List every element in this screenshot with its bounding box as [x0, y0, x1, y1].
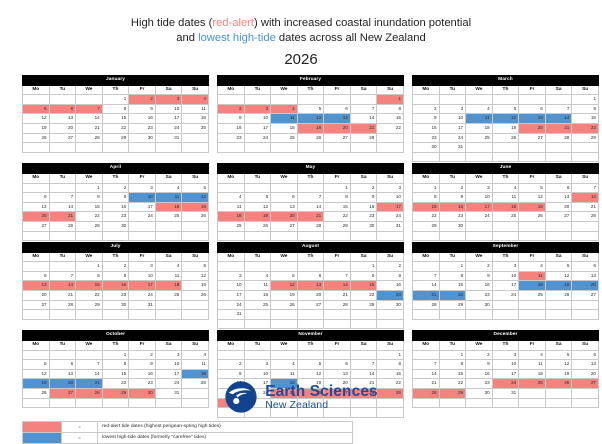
- day-cell-lowest-high-tide[interactable]: 13: [519, 114, 546, 124]
- day-cell[interactable]: 30: [129, 133, 156, 143]
- day-cell[interactable]: 20: [23, 291, 50, 301]
- day-cell-red-alert[interactable]: 18: [155, 202, 182, 212]
- day-cell[interactable]: 1: [413, 183, 440, 193]
- day-cell[interactable]: 7: [76, 360, 103, 370]
- day-cell[interactable]: 28: [49, 300, 76, 310]
- day-cell[interactable]: 9: [439, 193, 466, 203]
- day-cell[interactable]: 31: [129, 300, 156, 310]
- day-cell[interactable]: 27: [49, 133, 76, 143]
- day-cell[interactable]: 26: [519, 212, 546, 222]
- day-cell-lowest-high-tide[interactable]: 19: [545, 281, 572, 291]
- day-cell[interactable]: 12: [519, 193, 546, 203]
- day-cell[interactable]: 11: [218, 202, 245, 212]
- day-cell[interactable]: 15: [102, 369, 129, 379]
- day-cell[interactable]: 22: [76, 212, 103, 222]
- day-cell[interactable]: 14: [76, 114, 103, 124]
- day-cell[interactable]: 6: [519, 104, 546, 114]
- day-cell[interactable]: 27: [324, 133, 351, 143]
- day-cell[interactable]: 27: [23, 221, 50, 231]
- day-cell[interactable]: 27: [519, 133, 546, 143]
- day-cell[interactable]: 26: [182, 212, 209, 222]
- day-cell[interactable]: 5: [271, 271, 298, 281]
- day-cell[interactable]: 5: [23, 360, 50, 370]
- day-cell-lowest-high-tide[interactable]: 21: [413, 291, 440, 301]
- day-cell[interactable]: 16: [218, 123, 245, 133]
- day-cell[interactable]: 26: [23, 133, 50, 143]
- day-cell[interactable]: 28: [297, 221, 324, 231]
- day-cell[interactable]: 8: [102, 104, 129, 114]
- day-cell[interactable]: 9: [466, 271, 493, 281]
- day-cell[interactable]: 6: [572, 262, 599, 272]
- day-cell[interactable]: 18: [466, 123, 493, 133]
- day-cell[interactable]: 30: [413, 143, 440, 153]
- day-cell[interactable]: 6: [49, 360, 76, 370]
- day-cell[interactable]: 7: [350, 360, 377, 370]
- day-cell[interactable]: 28: [572, 212, 599, 222]
- day-cell-lowest-high-tide[interactable]: 22: [439, 291, 466, 301]
- day-cell[interactable]: 25: [271, 133, 298, 143]
- day-cell[interactable]: 9: [466, 360, 493, 370]
- day-cell[interactable]: 2: [466, 262, 493, 272]
- day-cell[interactable]: 5: [182, 183, 209, 193]
- day-cell[interactable]: 8: [76, 193, 103, 203]
- day-cell-red-alert[interactable]: 17: [466, 202, 493, 212]
- day-cell[interactable]: 7: [297, 193, 324, 203]
- day-cell[interactable]: 24: [439, 133, 466, 143]
- day-cell[interactable]: 2: [102, 262, 129, 272]
- day-cell[interactable]: 25: [466, 133, 493, 143]
- day-cell-red-alert[interactable]: 15: [76, 281, 103, 291]
- day-cell[interactable]: 9: [413, 114, 440, 124]
- day-cell-red-alert[interactable]: 18: [155, 281, 182, 291]
- day-cell[interactable]: 8: [76, 271, 103, 281]
- day-cell[interactable]: 3: [129, 183, 156, 193]
- day-cell[interactable]: 17: [244, 123, 271, 133]
- day-cell-lowest-high-tide[interactable]: 20: [572, 281, 599, 291]
- day-cell[interactable]: 2: [350, 183, 377, 193]
- day-cell[interactable]: 26: [182, 291, 209, 301]
- day-cell[interactable]: 23: [218, 133, 245, 143]
- day-cell[interactable]: 9: [377, 271, 404, 281]
- day-cell[interactable]: 26: [297, 133, 324, 143]
- day-cell-red-alert[interactable]: 7: [76, 104, 103, 114]
- day-cell-red-alert[interactable]: 11: [519, 271, 546, 281]
- day-cell[interactable]: 1: [324, 183, 351, 193]
- day-cell-red-alert[interactable]: 19: [182, 202, 209, 212]
- day-cell[interactable]: 10: [244, 369, 271, 379]
- day-cell[interactable]: 1: [102, 350, 129, 360]
- day-cell[interactable]: 10: [492, 360, 519, 370]
- day-cell[interactable]: 31: [439, 143, 466, 153]
- day-cell[interactable]: 2: [218, 360, 245, 370]
- day-cell[interactable]: 17: [492, 281, 519, 291]
- day-cell[interactable]: 17: [155, 114, 182, 124]
- day-cell[interactable]: 7: [545, 104, 572, 114]
- day-cell[interactable]: 23: [102, 212, 129, 222]
- day-cell[interactable]: 25: [519, 291, 546, 301]
- day-cell[interactable]: 10: [155, 104, 182, 114]
- day-cell[interactable]: 24: [466, 212, 493, 222]
- day-cell-lowest-high-tide[interactable]: 11: [271, 114, 298, 124]
- day-cell[interactable]: 1: [439, 350, 466, 360]
- day-cell[interactable]: 11: [244, 281, 271, 291]
- day-cell[interactable]: 31: [155, 133, 182, 143]
- day-cell[interactable]: 17: [218, 291, 245, 301]
- day-cell[interactable]: 27: [297, 300, 324, 310]
- day-cell[interactable]: 27: [545, 212, 572, 222]
- day-cell[interactable]: 1: [439, 262, 466, 272]
- day-cell-red-alert[interactable]: 18: [492, 202, 519, 212]
- day-cell-red-alert[interactable]: 14: [49, 281, 76, 291]
- day-cell[interactable]: 25: [218, 221, 245, 231]
- day-cell-red-alert[interactable]: 4: [271, 104, 298, 114]
- day-cell[interactable]: 15: [377, 369, 404, 379]
- day-cell-red-alert[interactable]: 2: [129, 95, 156, 105]
- day-cell[interactable]: 7: [413, 271, 440, 281]
- day-cell[interactable]: 8: [377, 104, 404, 114]
- day-cell[interactable]: 30: [102, 221, 129, 231]
- day-cell[interactable]: 12: [23, 369, 50, 379]
- day-cell[interactable]: 12: [23, 114, 50, 124]
- day-cell[interactable]: 17: [439, 123, 466, 133]
- day-cell-red-alert[interactable]: 14: [324, 281, 351, 291]
- day-cell[interactable]: 2: [439, 183, 466, 193]
- day-cell-red-alert[interactable]: 20: [23, 212, 50, 222]
- day-cell[interactable]: 20: [572, 369, 599, 379]
- day-cell-lowest-high-tide[interactable]: 12: [297, 114, 324, 124]
- day-cell[interactable]: 14: [350, 369, 377, 379]
- day-cell[interactable]: 11: [155, 271, 182, 281]
- day-cell-lowest-high-tide[interactable]: 11: [155, 193, 182, 203]
- day-cell[interactable]: 4: [466, 104, 493, 114]
- day-cell[interactable]: 30: [350, 221, 377, 231]
- day-cell[interactable]: 2: [466, 350, 493, 360]
- day-cell[interactable]: 16: [413, 123, 440, 133]
- day-cell[interactable]: 8: [413, 193, 440, 203]
- day-cell[interactable]: 8: [439, 271, 466, 281]
- day-cell[interactable]: 14: [297, 202, 324, 212]
- day-cell[interactable]: 29: [324, 221, 351, 231]
- day-cell-red-alert[interactable]: 12: [271, 281, 298, 291]
- day-cell[interactable]: 23: [466, 291, 493, 301]
- day-cell[interactable]: 31: [218, 310, 245, 320]
- day-cell[interactable]: 3: [439, 104, 466, 114]
- day-cell[interactable]: 7: [49, 271, 76, 281]
- day-cell[interactable]: 25: [182, 123, 209, 133]
- day-cell[interactable]: 23: [413, 133, 440, 143]
- day-cell[interactable]: 4: [244, 271, 271, 281]
- day-cell[interactable]: 6: [23, 193, 50, 203]
- day-cell[interactable]: 23: [350, 212, 377, 222]
- day-cell[interactable]: 24: [129, 291, 156, 301]
- day-cell-red-alert[interactable]: 17: [129, 281, 156, 291]
- day-cell-lowest-high-tide[interactable]: 18: [519, 281, 546, 291]
- day-cell[interactable]: 18: [182, 114, 209, 124]
- day-cell[interactable]: 23: [102, 291, 129, 301]
- day-cell[interactable]: 16: [466, 369, 493, 379]
- day-cell[interactable]: 1: [350, 262, 377, 272]
- day-cell[interactable]: 22: [350, 291, 377, 301]
- day-cell[interactable]: 12: [297, 369, 324, 379]
- day-cell-red-alert[interactable]: 20: [519, 123, 546, 133]
- day-cell-red-alert[interactable]: 19: [519, 202, 546, 212]
- day-cell[interactable]: 15: [439, 281, 466, 291]
- day-cell[interactable]: 16: [129, 369, 156, 379]
- day-cell[interactable]: 19: [182, 281, 209, 291]
- day-cell[interactable]: 15: [324, 202, 351, 212]
- day-cell[interactable]: 15: [439, 369, 466, 379]
- day-cell[interactable]: 7: [413, 360, 440, 370]
- day-cell-red-alert[interactable]: 14: [572, 193, 599, 203]
- day-cell[interactable]: 22: [324, 212, 351, 222]
- day-cell[interactable]: 3: [244, 360, 271, 370]
- day-cell[interactable]: 11: [519, 360, 546, 370]
- day-cell[interactable]: 28: [545, 133, 572, 143]
- day-cell[interactable]: 19: [23, 123, 50, 133]
- day-cell[interactable]: 25: [155, 291, 182, 301]
- day-cell-red-alert[interactable]: 5: [23, 104, 50, 114]
- day-cell[interactable]: 21: [572, 202, 599, 212]
- day-cell[interactable]: 13: [572, 360, 599, 370]
- day-cell-red-alert[interactable]: 21: [350, 123, 377, 133]
- day-cell[interactable]: 21: [49, 291, 76, 301]
- day-cell[interactable]: 15: [76, 202, 103, 212]
- day-cell-red-alert[interactable]: 21: [545, 123, 572, 133]
- day-cell[interactable]: 1: [572, 95, 599, 105]
- day-cell[interactable]: 14: [49, 202, 76, 212]
- day-cell[interactable]: 14: [413, 281, 440, 291]
- day-cell[interactable]: 29: [439, 300, 466, 310]
- day-cell[interactable]: 4: [182, 350, 209, 360]
- day-cell[interactable]: 1: [76, 183, 103, 193]
- day-cell[interactable]: 30: [102, 300, 129, 310]
- day-cell[interactable]: 25: [155, 212, 182, 222]
- day-cell[interactable]: 27: [23, 300, 50, 310]
- day-cell-red-alert[interactable]: 18: [218, 212, 245, 222]
- day-cell[interactable]: 8: [350, 271, 377, 281]
- day-cell[interactable]: 9: [350, 193, 377, 203]
- day-cell[interactable]: 6: [324, 360, 351, 370]
- day-cell[interactable]: 5: [545, 350, 572, 360]
- day-cell[interactable]: 10: [439, 114, 466, 124]
- day-cell-lowest-high-tide[interactable]: 12: [492, 114, 519, 124]
- day-cell-red-alert[interactable]: 6: [49, 104, 76, 114]
- day-cell[interactable]: 11: [271, 369, 298, 379]
- day-cell[interactable]: 9: [218, 369, 245, 379]
- day-cell[interactable]: 18: [244, 291, 271, 301]
- day-cell[interactable]: 4: [155, 262, 182, 272]
- day-cell[interactable]: 18: [519, 369, 546, 379]
- day-cell-red-alert[interactable]: 16: [102, 281, 129, 291]
- day-cell-red-alert[interactable]: 13: [23, 281, 50, 291]
- day-cell-red-alert[interactable]: 21: [49, 212, 76, 222]
- day-cell[interactable]: 29: [76, 221, 103, 231]
- day-cell[interactable]: 14: [413, 369, 440, 379]
- day-cell[interactable]: 22: [377, 123, 404, 133]
- day-cell[interactable]: 10: [155, 360, 182, 370]
- day-cell[interactable]: 4: [155, 183, 182, 193]
- day-cell[interactable]: 13: [49, 114, 76, 124]
- day-cell[interactable]: 20: [49, 123, 76, 133]
- day-cell[interactable]: 11: [492, 193, 519, 203]
- day-cell[interactable]: 29: [350, 300, 377, 310]
- day-cell-red-alert[interactable]: 22: [572, 123, 599, 133]
- day-cell[interactable]: 11: [182, 104, 209, 114]
- day-cell-red-alert[interactable]: 4: [182, 95, 209, 105]
- day-cell[interactable]: 3: [466, 183, 493, 193]
- day-cell[interactable]: 5: [244, 193, 271, 203]
- day-cell-lowest-high-tide[interactable]: 12: [182, 193, 209, 203]
- day-cell[interactable]: 28: [324, 300, 351, 310]
- day-cell-red-alert[interactable]: 20: [271, 212, 298, 222]
- day-cell[interactable]: 28: [76, 133, 103, 143]
- day-cell[interactable]: 1: [102, 95, 129, 105]
- day-cell[interactable]: 9: [129, 360, 156, 370]
- day-cell[interactable]: 6: [324, 104, 351, 114]
- day-cell[interactable]: 2: [129, 350, 156, 360]
- day-cell-red-alert[interactable]: 3: [155, 95, 182, 105]
- day-cell[interactable]: 9: [129, 104, 156, 114]
- day-cell[interactable]: 6: [297, 271, 324, 281]
- day-cell[interactable]: 27: [271, 221, 298, 231]
- day-cell[interactable]: 3: [218, 271, 245, 281]
- day-cell[interactable]: 16: [377, 281, 404, 291]
- day-cell[interactable]: 2: [102, 183, 129, 193]
- day-cell[interactable]: 3: [155, 350, 182, 360]
- day-cell[interactable]: 13: [271, 202, 298, 212]
- day-cell[interactable]: 24: [129, 212, 156, 222]
- day-cell[interactable]: 30: [439, 221, 466, 231]
- day-cell[interactable]: 29: [572, 133, 599, 143]
- day-cell[interactable]: 2: [377, 262, 404, 272]
- day-cell[interactable]: 10: [492, 271, 519, 281]
- day-cell[interactable]: 17: [155, 369, 182, 379]
- day-cell[interactable]: 28: [413, 300, 440, 310]
- day-cell[interactable]: 12: [545, 271, 572, 281]
- day-cell[interactable]: 20: [545, 202, 572, 212]
- day-cell[interactable]: 5: [182, 262, 209, 272]
- day-cell[interactable]: 19: [271, 291, 298, 301]
- day-cell[interactable]: 30: [466, 300, 493, 310]
- day-cell[interactable]: 24: [244, 133, 271, 143]
- day-cell[interactable]: 29: [413, 221, 440, 231]
- day-cell-red-alert[interactable]: 21: [297, 212, 324, 222]
- day-cell-red-alert[interactable]: 16: [439, 202, 466, 212]
- day-cell[interactable]: 12: [182, 271, 209, 281]
- day-cell[interactable]: 15: [572, 114, 599, 124]
- day-cell[interactable]: 5: [545, 262, 572, 272]
- day-cell[interactable]: 27: [572, 291, 599, 301]
- day-cell[interactable]: 24: [155, 123, 182, 133]
- day-cell[interactable]: 22: [413, 212, 440, 222]
- day-cell[interactable]: 14: [350, 114, 377, 124]
- day-cell[interactable]: 19: [545, 369, 572, 379]
- day-cell[interactable]: 28: [49, 221, 76, 231]
- day-cell[interactable]: 15: [377, 114, 404, 124]
- day-cell[interactable]: 26: [271, 300, 298, 310]
- day-cell[interactable]: 8: [102, 360, 129, 370]
- day-cell[interactable]: 7: [49, 193, 76, 203]
- day-cell[interactable]: 10: [244, 114, 271, 124]
- day-cell[interactable]: 22: [102, 123, 129, 133]
- day-cell[interactable]: 9: [218, 114, 245, 124]
- day-cell[interactable]: 1: [377, 350, 404, 360]
- day-cell[interactable]: 9: [102, 193, 129, 203]
- day-cell[interactable]: 10: [218, 281, 245, 291]
- day-cell-red-alert[interactable]: 19: [244, 212, 271, 222]
- day-cell[interactable]: 4: [519, 262, 546, 272]
- day-cell[interactable]: 8: [572, 104, 599, 114]
- day-cell[interactable]: 31: [377, 221, 404, 231]
- day-cell[interactable]: 17: [492, 369, 519, 379]
- day-cell[interactable]: 1: [76, 262, 103, 272]
- day-cell-red-alert[interactable]: 20: [324, 123, 351, 133]
- day-cell-red-alert[interactable]: 15: [350, 281, 377, 291]
- day-cell[interactable]: 4: [492, 183, 519, 193]
- day-cell[interactable]: 23: [439, 212, 466, 222]
- day-cell[interactable]: 13: [572, 271, 599, 281]
- day-cell[interactable]: 15: [102, 114, 129, 124]
- day-cell[interactable]: 21: [324, 291, 351, 301]
- day-cell[interactable]: 12: [545, 360, 572, 370]
- day-cell[interactable]: 29: [76, 300, 103, 310]
- day-cell[interactable]: 14: [76, 369, 103, 379]
- day-cell[interactable]: 6: [572, 350, 599, 360]
- day-cell-red-alert[interactable]: 1: [377, 95, 404, 105]
- day-cell[interactable]: 19: [492, 123, 519, 133]
- day-cell[interactable]: 7: [350, 104, 377, 114]
- day-cell[interactable]: 21: [76, 123, 103, 133]
- day-cell[interactable]: 9: [102, 271, 129, 281]
- day-cell[interactable]: 2: [413, 104, 440, 114]
- day-cell[interactable]: 5: [297, 104, 324, 114]
- day-cell[interactable]: 26: [244, 221, 271, 231]
- day-cell[interactable]: 8: [439, 360, 466, 370]
- day-cell-red-alert[interactable]: 19: [297, 123, 324, 133]
- day-cell[interactable]: 13: [23, 202, 50, 212]
- day-cell[interactable]: 20: [297, 291, 324, 301]
- day-cell[interactable]: 25: [492, 212, 519, 222]
- day-cell[interactable]: 24: [377, 212, 404, 222]
- day-cell[interactable]: 5: [297, 360, 324, 370]
- day-cell[interactable]: 30: [377, 300, 404, 310]
- day-cell[interactable]: 29: [102, 133, 129, 143]
- day-cell[interactable]: 16: [466, 281, 493, 291]
- day-cell[interactable]: 17: [129, 202, 156, 212]
- day-cell[interactable]: 13: [545, 193, 572, 203]
- day-cell-red-alert[interactable]: 3: [244, 104, 271, 114]
- day-cell-lowest-high-tide[interactable]: 23: [377, 291, 404, 301]
- day-cell-lowest-high-tide[interactable]: 10: [129, 193, 156, 203]
- day-cell[interactable]: 26: [492, 133, 519, 143]
- day-cell[interactable]: 5: [519, 183, 546, 193]
- day-cell[interactable]: 4: [218, 193, 245, 203]
- day-cell[interactable]: 18: [271, 123, 298, 133]
- day-cell[interactable]: 4: [519, 350, 546, 360]
- day-cell[interactable]: 24: [492, 291, 519, 301]
- day-cell[interactable]: 6: [271, 193, 298, 203]
- day-cell[interactable]: 10: [129, 271, 156, 281]
- day-cell[interactable]: 3: [129, 262, 156, 272]
- day-cell[interactable]: 5: [492, 104, 519, 114]
- day-cell[interactable]: 4: [271, 360, 298, 370]
- day-cell-lowest-high-tide[interactable]: 11: [466, 114, 493, 124]
- day-cell[interactable]: 6: [23, 271, 50, 281]
- day-cell-red-alert[interactable]: 13: [297, 281, 324, 291]
- day-cell[interactable]: 3: [377, 183, 404, 193]
- day-cell[interactable]: 22: [76, 291, 103, 301]
- day-cell[interactable]: 11: [182, 360, 209, 370]
